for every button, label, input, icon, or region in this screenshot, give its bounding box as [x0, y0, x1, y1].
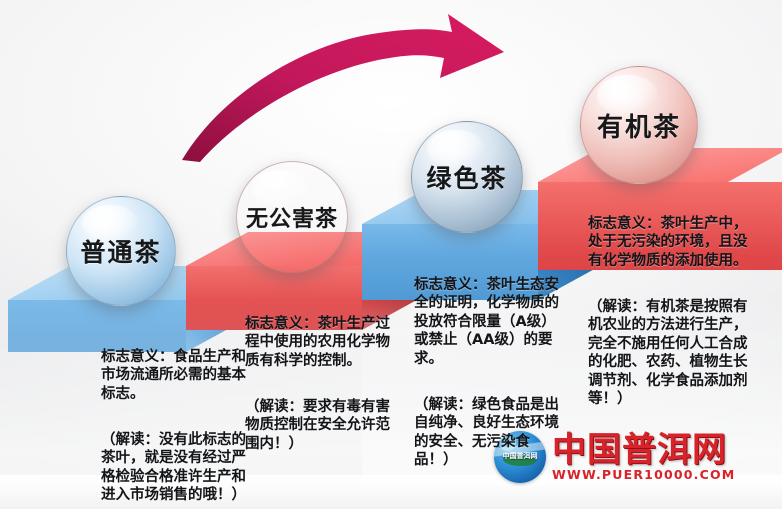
caption-3-meaning: 标志意义：茶叶生态安全的证明，化学物质的投放符合限量（A级）或禁止（AA级）的要…	[414, 276, 566, 369]
sphere-step-3[interactable]: 绿色茶	[411, 121, 523, 233]
sphere-label-4: 有机茶	[597, 107, 681, 144]
sphere-step-1[interactable]: 普通茶	[66, 196, 176, 306]
sphere-label-1: 普通茶	[80, 233, 161, 269]
sphere-label-3: 绿色茶	[426, 159, 507, 195]
caption-2-meaning: 标志意义：茶叶生产过程中使用的农用化学物质有科学的控制。	[245, 315, 395, 371]
caption-step-4: 标志意义：茶叶生产中，处于无污染的环境，且没有化学物质的添加使用。 （解读：有机…	[588, 196, 748, 428]
caption-step-2: 标志意义：茶叶生产过程中使用的农用化学物质有科学的控制。 （解读：要求有毒有害物…	[245, 296, 395, 472]
sphere-step-2[interactable]: 无公害茶	[236, 161, 348, 273]
watermark-url: WWW.PUER10000.COM	[552, 469, 735, 482]
caption-step-3: 标志意义：茶叶生态安全的证明，化学物质的投放符合限量（A级）或禁止（AA级）的要…	[414, 257, 566, 489]
caption-3-note: （解读：绿色食品是出自纯净、良好生态环境的安全、无污染食品！）	[414, 396, 566, 470]
caption-1-note: （解读：没有此标志的茶叶，就是没有经过严格检验合格准许生产和进入市场销售的哦！）	[101, 431, 251, 505]
infographic-stage: 普通茶 无公害茶 绿色茶 有机茶 标志意义：食品生产和市场流通所必需的基本标志。…	[0, 0, 782, 509]
watermark-site-name: 中国普洱网	[552, 433, 735, 467]
caption-step-1: 标志意义：食品生产和市场流通所必需的基本标志。 （解读：没有此标志的茶叶，就是没…	[101, 329, 251, 509]
watermark-text-group: 中国普洱网 WWW.PUER10000.COM	[552, 433, 735, 482]
caption-4-meaning: 标志意义：茶叶生产中，处于无污染的环境，且没有化学物质的添加使用。	[588, 215, 748, 271]
caption-2-note: （解读：要求有毒有害物质控制在安全允许范围内！）	[245, 398, 395, 454]
caption-4-note: （解读：有机茶是按照有机农业的方法进行生产，完全不施用任何人工合成的化肥、农药、…	[588, 298, 748, 409]
sphere-step-4[interactable]: 有机茶	[580, 66, 698, 184]
sphere-label-2: 无公害茶	[246, 201, 338, 233]
caption-1-meaning: 标志意义：食品生产和市场流通所必需的基本标志。	[101, 348, 251, 404]
